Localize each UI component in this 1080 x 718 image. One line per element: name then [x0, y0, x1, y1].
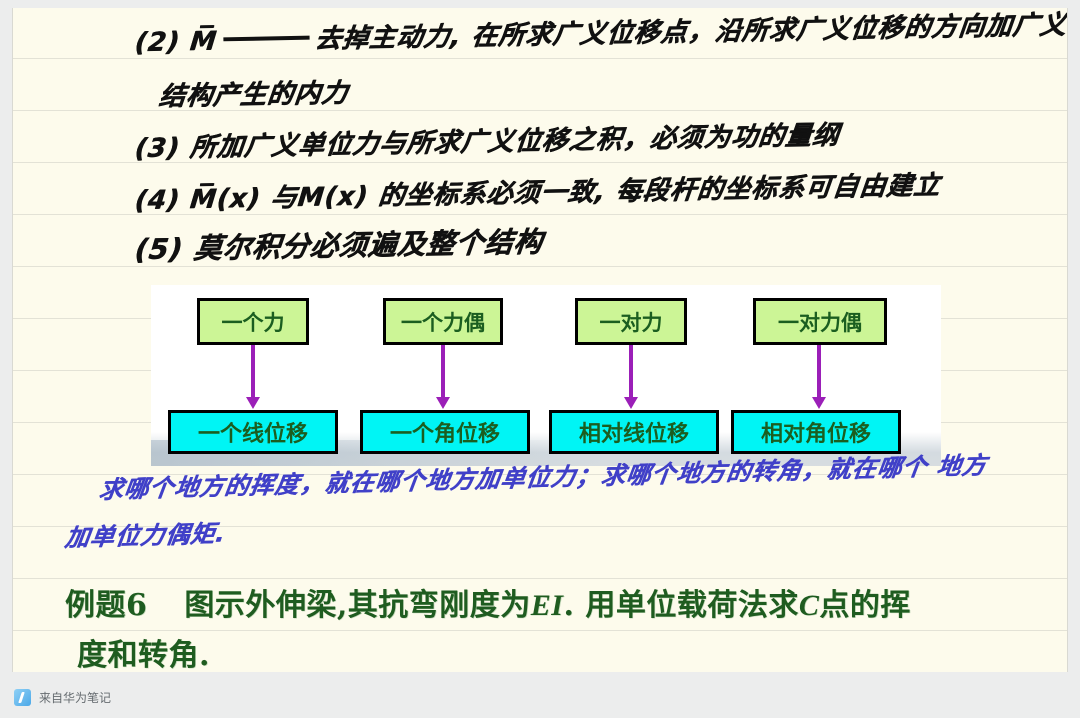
handwriting-line-item-2-cont: 结构产生的内力	[158, 80, 350, 110]
source-footer: 来自华为笔记	[0, 676, 1080, 718]
diagram-arrow-shaft-1	[251, 345, 255, 400]
diagram-arrow-shaft-4	[817, 345, 821, 400]
diagram-displacement-box-1: 一个线位移	[168, 410, 338, 454]
handwriting-prefix: (2) M̅	[133, 26, 218, 58]
handwriting-line-item-4: (4) M̅(x) 与M(x) 的坐标系必须一致, 每段杆的坐标系可自由建立	[134, 173, 942, 214]
diagram-arrow-shaft-3	[629, 345, 633, 400]
example-label: 例题6	[65, 588, 147, 623]
diagram-displacement-box-4: 相对角位移	[731, 410, 901, 454]
em-dash-stroke	[223, 36, 309, 42]
handwriting-blue-line-2: 加单位力偶矩.	[63, 522, 227, 550]
example-heading-line-1: 例题6 图示外伸梁,其抗弯刚度为EI. 用单位载荷法求C点的挥	[65, 580, 911, 624]
screenshot-root: (2) M̅去掉主动力, 在所求广义位移点，沿所求广义位移的方向加广义单位力时,…	[0, 0, 1080, 718]
diagram-displacement-box-3: 相对线位移	[549, 410, 719, 454]
example-symbol-ei: EI	[531, 589, 564, 622]
handwriting-line-item-3: (3) 所加广义单位力与所求广义位移之积，必须为功的量纲	[134, 123, 841, 162]
source-label: 来自华为笔记	[39, 689, 111, 706]
diagram-arrow-head-4	[812, 397, 826, 409]
note-paper: (2) M̅去掉主动力, 在所求广义位移点，沿所求广义位移的方向加广义单位力时,…	[12, 8, 1068, 672]
example-symbol-c: C	[799, 589, 820, 622]
diagram-arrow-head-2	[436, 397, 450, 409]
example-text-a: 图示外伸梁,其抗弯刚度为	[184, 588, 530, 623]
diagram-force-box-3: 一对力	[575, 298, 687, 345]
example-text-b: . 用单位载荷法求	[563, 588, 798, 623]
handwriting-line-item-5: (5) 莫尔积分必须遍及整个结构	[134, 228, 545, 264]
handwriting-body: 去掉主动力, 在所求广义位移点，沿所求广义位移的方向加广义单位力时,	[314, 8, 1068, 55]
diagram-arrow-head-1	[246, 397, 260, 409]
diagram-force-box-2: 一个力偶	[383, 298, 503, 345]
handwriting-line-item-2-prefix: (2) M̅去掉主动力, 在所求广义位移点，沿所求广义位移的方向加广义单位力时,	[134, 10, 1068, 56]
force-displacement-diagram: 一个力 一个线位移 一个力偶 一个角位移 一对力 相对线位移 一对力偶 相对角位…	[151, 285, 941, 466]
diagram-force-box-4: 一对力偶	[753, 298, 887, 345]
example-text-c: 点的挥	[819, 588, 911, 623]
diagram-force-box-1: 一个力	[197, 298, 309, 345]
diagram-displacement-box-2: 一个角位移	[360, 410, 530, 454]
diagram-arrow-shaft-2	[441, 345, 445, 400]
diagram-arrow-head-3	[624, 397, 638, 409]
huawei-notes-icon	[14, 689, 31, 706]
example-heading-line-2: 度和转角.	[77, 630, 210, 672]
